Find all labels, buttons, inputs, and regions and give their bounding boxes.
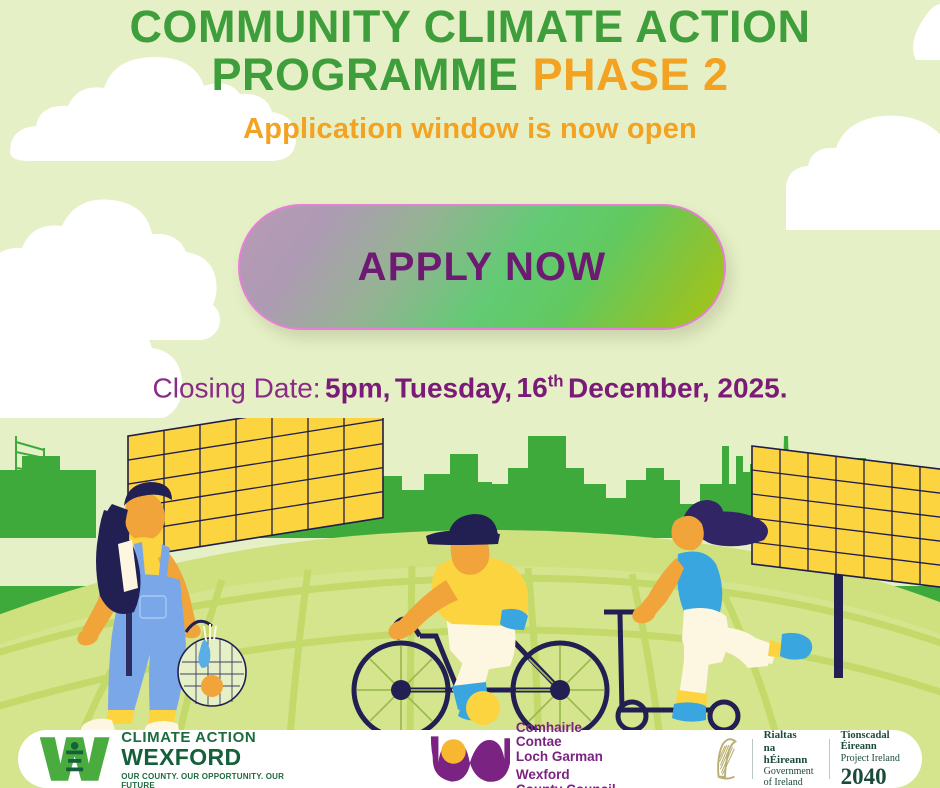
footer-logo-bar: CLIMATE ACTION WEXFORD OUR COUNTY. OUR O… (0, 730, 940, 788)
wcc-english-line-2: County Council (516, 783, 625, 788)
page-title-line-2-row: PROGRAMMEPhase 2 (0, 52, 940, 98)
logo-climate-action-wexford: CLIMATE ACTION WEXFORD OUR COUNTY. OUR O… (36, 729, 309, 788)
gov-text-block: Rialtas na hÉireann Government of Irelan… (764, 729, 818, 788)
apply-now-label: APPLY NOW (358, 245, 607, 290)
closing-date: Closing Date: 5pm, Tuesday, 16th Decembe… (0, 372, 940, 404)
wcc-w-icon (429, 733, 510, 785)
page-title-line-1: COMMUNITY CLIMATE ACTION (0, 4, 940, 50)
logo-divider-1 (752, 739, 753, 779)
phase-badge: Phase 2 (532, 49, 728, 100)
footer-inner: CLIMATE ACTION WEXFORD OUR COUNTY. OUR O… (18, 730, 922, 788)
logo-divider-2 (829, 739, 830, 779)
closing-date-day-suffix: th (548, 372, 564, 391)
caw-line-main: WEXFORD (121, 746, 309, 769)
closing-date-weekday: Tuesday, (395, 372, 512, 403)
apply-now-button[interactable]: APPLY NOW (238, 204, 726, 330)
p2040-year: 2040 (841, 765, 922, 788)
closing-date-month-year: December, 2025. (568, 372, 788, 403)
logo-wexford-county-council: Comhairle Contae Loch Garman Wexford Cou… (429, 721, 625, 788)
closing-date-day: 16th (517, 372, 564, 403)
closing-date-day-number: 16 (517, 372, 548, 403)
logo-government-of-ireland: Rialtas na hÉireann Government of Irelan… (713, 729, 922, 788)
page-title-line-2: PROGRAMME (211, 49, 518, 100)
subheading: Application window is now open (0, 115, 940, 145)
p2040-line-1: Tionscadal Éireann (841, 730, 922, 754)
climate-action-poster: COMMUNITY CLIMATE ACTION PROGRAMMEPhase … (0, 0, 940, 788)
project-ireland-2040-block: Tionscadal Éireann Project Ireland 2040 (841, 730, 922, 788)
gov-line-2: na hÉireann (764, 742, 818, 767)
harp-icon (713, 736, 741, 782)
wexford-w-icon (36, 734, 115, 784)
gov-line-1: Rialtas (764, 729, 818, 741)
wcc-text-block: Comhairle Contae Loch Garman Wexford Cou… (516, 721, 625, 788)
closing-date-time: 5pm, (325, 372, 390, 403)
wcc-irish-line-2: Loch Garman (516, 750, 625, 765)
gov-line-4: of Ireland (764, 777, 818, 788)
closing-date-label: Closing Date: (153, 372, 321, 403)
wcc-english-line-1: Wexford (516, 768, 625, 783)
wcc-irish-line-1: Comhairle Contae (516, 721, 625, 750)
headline-block: COMMUNITY CLIMATE ACTION PROGRAMMEPhase … (0, 4, 940, 144)
gov-line-3: Government (764, 766, 818, 777)
caw-tagline: OUR COUNTY. OUR OPPORTUNITY. OUR FUTURE (121, 772, 309, 788)
apply-now-button-wrapper: APPLY NOW (238, 204, 726, 330)
p2040-line-2: Project Ireland (841, 753, 922, 764)
